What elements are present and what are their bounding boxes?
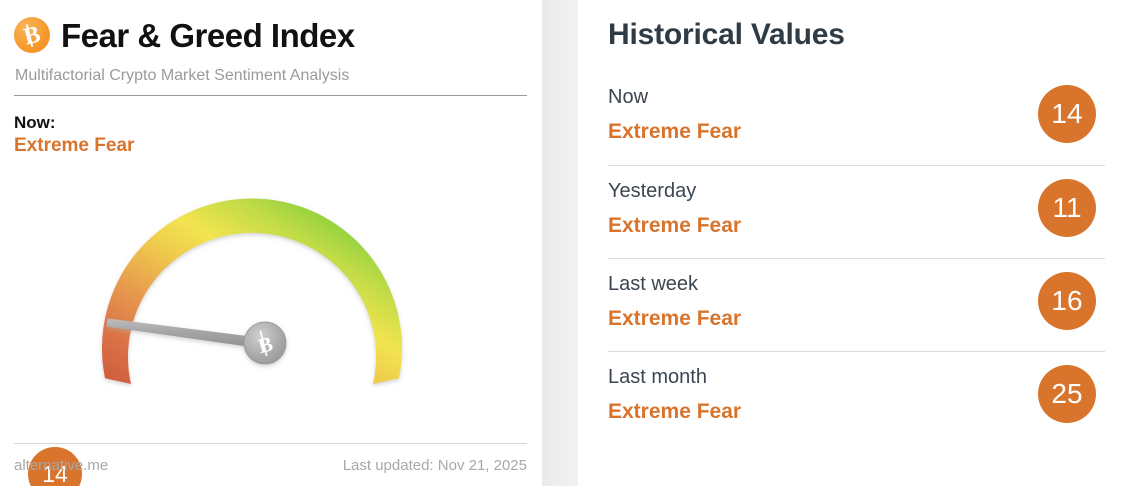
- header-divider: [14, 95, 527, 96]
- now-label: Now:: [14, 112, 528, 133]
- history-value-badge: 16: [1038, 272, 1096, 330]
- list-item: Last month Extreme Fear 25: [608, 351, 1105, 444]
- history-period: Last month: [608, 364, 1105, 390]
- history-classification: Extreme Fear: [608, 212, 1105, 239]
- historical-title: Historical Values: [608, 18, 1105, 52]
- historical-list: Now Extreme Fear 14 Yesterday Extreme Fe…: [608, 72, 1105, 444]
- history-period: Yesterday: [608, 178, 1105, 204]
- gauge-panel: B Fear & Greed Index Multifactorial Cryp…: [0, 0, 542, 486]
- brand-row: B Fear & Greed Index: [14, 12, 528, 58]
- page-title: Fear & Greed Index: [61, 19, 355, 52]
- history-value-badge: 25: [1038, 365, 1096, 423]
- list-item: Last week Extreme Fear 16: [608, 258, 1105, 351]
- gauge-arc: B: [62, 160, 442, 430]
- historical-panel: Historical Values Now Extreme Fear 14 Ye…: [578, 0, 1127, 486]
- history-period: Now: [608, 84, 1105, 110]
- history-classification: Extreme Fear: [608, 398, 1105, 425]
- list-item: Yesterday Extreme Fear 11: [608, 165, 1105, 258]
- history-classification: Extreme Fear: [608, 305, 1105, 332]
- history-value-badge: 14: [1038, 85, 1096, 143]
- history-period: Last week: [608, 271, 1105, 297]
- gauge: B 14: [0, 160, 542, 430]
- panel-divider: [542, 0, 578, 486]
- page-subtitle: Multifactorial Crypto Market Sentiment A…: [15, 67, 528, 85]
- panel-footer: alternative.me Last updated: Nov 21, 202…: [14, 443, 527, 486]
- now-block: Now: Extreme Fear: [14, 112, 528, 158]
- source-label[interactable]: alternative.me: [14, 457, 108, 474]
- history-value-badge: 11: [1038, 179, 1096, 237]
- now-classification: Extreme Fear: [14, 134, 528, 158]
- fear-greed-widget: B Fear & Greed Index Multifactorial Cryp…: [0, 0, 1127, 486]
- history-classification: Extreme Fear: [608, 118, 1105, 145]
- list-item: Now Extreme Fear 14: [608, 72, 1105, 165]
- bitcoin-icon: B: [14, 17, 50, 53]
- last-updated-label: Last updated: Nov 21, 2025: [343, 457, 527, 474]
